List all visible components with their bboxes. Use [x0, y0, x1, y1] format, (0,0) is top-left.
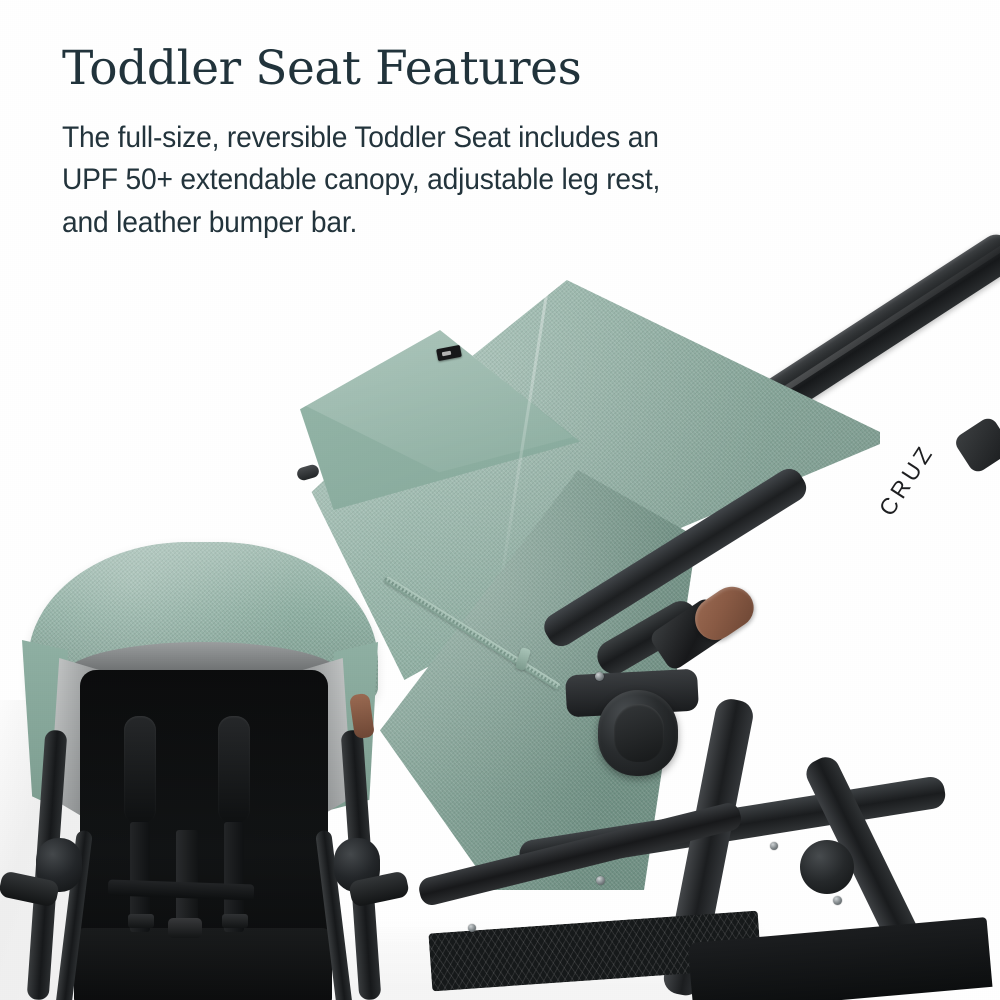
harness-center-buckle: [168, 918, 202, 938]
page-title: Toddler Seat Features: [62, 44, 942, 95]
frame-rivet: [595, 672, 604, 681]
canopy-side-peg: [296, 463, 321, 482]
page-description: The full-size, reversible Toddler Seat i…: [62, 117, 889, 245]
second-stroller-front-view: [0, 530, 400, 1000]
harness-shoulder-pad-left: [124, 716, 156, 824]
cruz-brand-label: CRUZ: [874, 439, 940, 521]
text-block: Toddler Seat Features The full-size, rev…: [62, 44, 942, 245]
recline-hub-inner: [614, 704, 664, 762]
handlebar-joint: [952, 415, 1000, 475]
harness-buckle-left: [128, 914, 154, 928]
harness-shoulder-pad-right: [218, 716, 250, 824]
leg-pivot-hub: [800, 840, 854, 894]
seat-cushion: [74, 928, 332, 1000]
frame-rivet: [468, 924, 476, 932]
frame-rivet: [833, 896, 842, 905]
frame-rivet: [770, 842, 778, 850]
harness-buckle-right: [222, 914, 248, 928]
product-feature-image: CRUZ: [0, 0, 1000, 1000]
frame-rivet: [596, 876, 605, 885]
